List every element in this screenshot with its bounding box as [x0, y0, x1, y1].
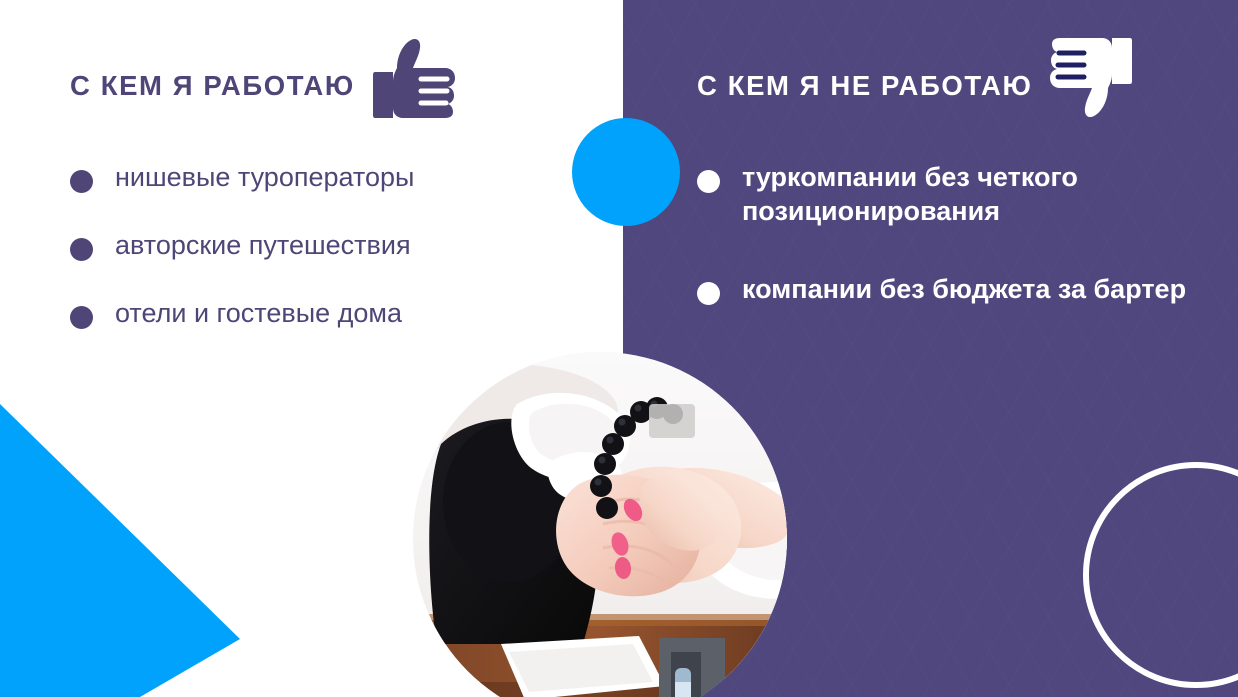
list-item-label: авторские путешествия	[115, 228, 411, 262]
list-item-label: отели и гостевые дома	[115, 296, 402, 330]
bullet-dot-icon	[697, 282, 720, 305]
left-panel-title: С КЕМ Я РАБОТАЮ	[70, 72, 355, 100]
bullet-dot-icon	[70, 306, 93, 329]
right-panel-heading: С КЕМ Я НЕ РАБОТАЮ	[697, 54, 1132, 118]
bullet-dot-icon	[697, 170, 720, 193]
bullet-dot-icon	[70, 170, 93, 193]
blue-arrow-shape	[0, 404, 240, 697]
list-item-label: туркомпании без четкого позиционирования	[742, 160, 1212, 228]
list-item: отели и гостевые дома	[70, 296, 590, 330]
list-item: нишевые туроператоры	[70, 160, 590, 194]
list-item-label: компании без бюджета за бартер	[742, 272, 1186, 306]
thumbs-down-icon	[1050, 38, 1132, 118]
slide-canvas: С КЕМ Я РАБОТАЮ С КЕМ Я НЕ РАБОТАЮ	[0, 0, 1238, 697]
left-panel-heading: С КЕМ Я РАБОТАЮ	[70, 54, 455, 118]
list-item: туркомпании без четкого позиционирования	[697, 160, 1212, 228]
right-panel-title: С КЕМ Я НЕ РАБОТАЮ	[697, 72, 1032, 100]
thumbs-up-icon	[373, 38, 455, 118]
left-panel-bullet-list: нишевые туроператоры авторские путешеств…	[70, 160, 590, 364]
right-panel-bullet-list: туркомпании без четкого позиционирования…	[697, 160, 1212, 350]
list-item: компании без бюджета за бартер	[697, 272, 1212, 306]
list-item-label: нишевые туроператоры	[115, 160, 414, 194]
list-item: авторские путешествия	[70, 228, 590, 262]
bullet-dot-icon	[70, 238, 93, 261]
